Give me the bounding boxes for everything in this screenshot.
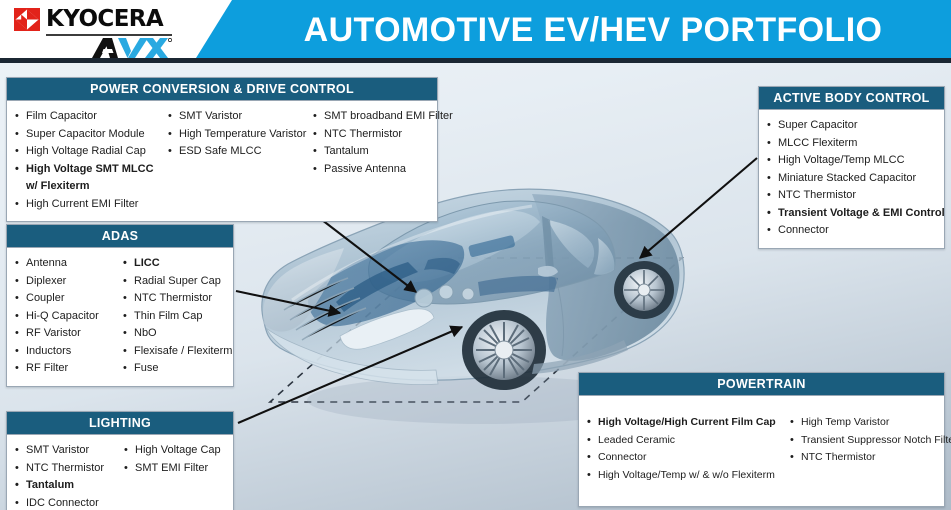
list-item[interactable]: Antenna bbox=[15, 255, 111, 273]
list-item[interactable]: Transient Suppressor Notch Filter bbox=[790, 432, 940, 450]
panel-adas: ADAS Antenna Diplexer Coupler Hi-Q Capac… bbox=[6, 224, 234, 387]
list-item[interactable]: NTC Thermistor bbox=[767, 187, 942, 205]
panel-powertrain: POWERTRAIN High Voltage/High Current Fil… bbox=[578, 372, 945, 507]
panel-power-conversion-title: POWER CONVERSION & DRIVE CONTROL bbox=[7, 78, 437, 101]
list-item[interactable]: IDC Connector bbox=[15, 495, 112, 510]
list-item[interactable]: Connector bbox=[587, 449, 778, 467]
list-item[interactable]: Fuse bbox=[123, 360, 229, 378]
arrow-active-body-control bbox=[640, 158, 757, 258]
panel-lighting-body: SMT Varistor NTC Thermistor Tantalum IDC… bbox=[7, 435, 233, 510]
list-item[interactable]: Coupler bbox=[15, 290, 111, 308]
list-item[interactable]: SMT Varistor bbox=[168, 108, 301, 126]
panel-active-body-control: ACTIVE BODY CONTROL Super Capacitor MLCC… bbox=[758, 86, 945, 249]
list-item[interactable]: Super Capacitor bbox=[767, 117, 942, 135]
column-1: High Voltage/High Current Film Cap Leade… bbox=[579, 414, 782, 498]
column-1: Film Capacitor Super Capacitor Module Hi… bbox=[7, 108, 160, 213]
list-item[interactable]: Connector bbox=[767, 222, 942, 240]
list-item[interactable]: High Voltage SMT MLCC w/ Flexiterm bbox=[15, 161, 156, 196]
list-item[interactable]: SMT EMI Filter bbox=[124, 460, 229, 478]
panel-adas-title: ADAS bbox=[7, 225, 233, 248]
item-list: SMT Varistor High Temperature Varistor E… bbox=[168, 108, 301, 161]
header-divider bbox=[0, 58, 951, 63]
list-item[interactable]: SMT broadband EMI Filter bbox=[313, 108, 433, 126]
item-list: SMT broadband EMI Filter NTC Thermistor … bbox=[313, 108, 433, 178]
item-list: High Voltage/High Current Film Cap Leade… bbox=[587, 414, 778, 484]
panel-lighting-title: LIGHTING bbox=[7, 412, 233, 435]
item-list: Super Capacitor MLCC Flexiterm High Volt… bbox=[767, 117, 942, 240]
list-item[interactable]: MLCC Flexiterm bbox=[767, 135, 942, 153]
panel-adas-body: Antenna Diplexer Coupler Hi-Q Capacitor … bbox=[7, 248, 233, 386]
panel-power-conversion-body: Film Capacitor Super Capacitor Module Hi… bbox=[7, 101, 437, 221]
column-2: SMT Varistor High Temperature Varistor E… bbox=[160, 108, 305, 213]
panel-powertrain-title: POWERTRAIN bbox=[579, 373, 944, 396]
list-item[interactable]: Transient Voltage & EMI Control bbox=[767, 205, 942, 223]
arrow-adas bbox=[236, 291, 340, 313]
list-item[interactable]: RF Varistor bbox=[15, 325, 111, 343]
list-item[interactable]: Film Capacitor bbox=[15, 108, 156, 126]
list-item[interactable]: Radial Super Cap bbox=[123, 273, 229, 291]
brand-logo[interactable]: KYOCERA bbox=[14, 6, 174, 56]
list-item[interactable]: High Voltage Cap bbox=[124, 442, 229, 460]
list-item[interactable]: High Voltage/Temp MLCC bbox=[767, 152, 942, 170]
panel-powertrain-body: High Voltage/High Current Film Cap Leade… bbox=[579, 396, 944, 506]
item-list: High Temp Varistor Transient Suppressor … bbox=[790, 414, 940, 467]
list-item[interactable]: ESD Safe MLCC bbox=[168, 143, 301, 161]
kyocera-lockup: KYOCERA bbox=[14, 6, 163, 32]
item-list: Film Capacitor Super Capacitor Module Hi… bbox=[15, 108, 156, 213]
list-item[interactable]: Passive Antenna bbox=[313, 161, 433, 179]
list-item[interactable]: Diplexer bbox=[15, 273, 111, 291]
list-item[interactable]: Leaded Ceramic bbox=[587, 432, 778, 450]
list-item[interactable]: High Voltage Radial Cap bbox=[15, 143, 156, 161]
column-1: Antenna Diplexer Coupler Hi-Q Capacitor … bbox=[7, 255, 115, 378]
logo-divider bbox=[46, 34, 172, 36]
list-item[interactable]: NTC Thermistor bbox=[313, 126, 433, 144]
item-list: High Voltage Cap SMT EMI Filter bbox=[124, 442, 229, 477]
column-1: SMT Varistor NTC Thermistor Tantalum IDC… bbox=[7, 442, 116, 510]
kyocera-diamond-icon bbox=[14, 8, 40, 31]
list-item[interactable]: High Voltage/Temp w/ & w/o Flexiterm bbox=[587, 467, 778, 485]
item-list: SMT Varistor NTC Thermistor Tantalum IDC… bbox=[15, 442, 112, 510]
item-list: LICC Radial Super Cap NTC Thermistor Thi… bbox=[123, 255, 229, 378]
header-bar: AUTOMOTIVE EV/HEV PORTFOLIO KYOCERA bbox=[0, 0, 951, 60]
list-item[interactable]: Thin Film Cap bbox=[123, 308, 229, 326]
panel-active-body-control-body: Super Capacitor MLCC Flexiterm High Volt… bbox=[759, 110, 944, 248]
list-item[interactable]: NTC Thermistor bbox=[790, 449, 940, 467]
list-item[interactable]: High Temperature Varistor bbox=[168, 126, 301, 144]
list-item[interactable]: Tantalum bbox=[313, 143, 433, 161]
list-item[interactable]: High Temp Varistor bbox=[790, 414, 940, 432]
list-item[interactable]: Tantalum bbox=[15, 477, 112, 495]
column-2: High Temp Varistor Transient Suppressor … bbox=[782, 414, 944, 498]
list-item[interactable]: Hi-Q Capacitor bbox=[15, 308, 111, 326]
list-item[interactable]: NTC Thermistor bbox=[15, 460, 112, 478]
list-item[interactable]: High Voltage/High Current Film Cap bbox=[587, 414, 778, 432]
panel-power-conversion: POWER CONVERSION & DRIVE CONTROL Film Ca… bbox=[6, 77, 438, 222]
column-1: Super Capacitor MLCC Flexiterm High Volt… bbox=[759, 117, 946, 240]
list-item[interactable]: SMT Varistor bbox=[15, 442, 112, 460]
list-item[interactable]: NbO bbox=[123, 325, 229, 343]
list-item[interactable]: High Current EMI Filter bbox=[15, 196, 156, 214]
page-title: AUTOMOTIVE EV/HEV PORTFOLIO bbox=[248, 7, 938, 53]
list-item[interactable]: RF Filter bbox=[15, 360, 111, 378]
kyocera-wordmark: KYOCERA bbox=[46, 8, 163, 31]
list-item[interactable]: Super Capacitor Module bbox=[15, 126, 156, 144]
column-2: High Voltage Cap SMT EMI Filter bbox=[116, 442, 233, 510]
avx-wordmark-icon bbox=[90, 37, 172, 59]
list-item[interactable]: NTC Thermistor bbox=[123, 290, 229, 308]
column-3: SMT broadband EMI Filter NTC Thermistor … bbox=[305, 108, 437, 213]
list-item[interactable]: LICC bbox=[123, 255, 229, 273]
infographic-canvas: POWER CONVERSION & DRIVE CONTROL Film Ca… bbox=[0, 0, 951, 510]
list-item[interactable]: Miniature Stacked Capacitor bbox=[767, 170, 942, 188]
list-item[interactable]: Flexisafe / Flexiterm bbox=[123, 343, 229, 361]
item-list: Antenna Diplexer Coupler Hi-Q Capacitor … bbox=[15, 255, 111, 378]
arrow-lighting bbox=[238, 327, 462, 423]
panel-active-body-control-title: ACTIVE BODY CONTROL bbox=[759, 87, 944, 110]
column-2: LICC Radial Super Cap NTC Thermistor Thi… bbox=[115, 255, 233, 378]
panel-lighting: LIGHTING SMT Varistor NTC Thermistor Tan… bbox=[6, 411, 234, 510]
list-item[interactable]: Inductors bbox=[15, 343, 111, 361]
